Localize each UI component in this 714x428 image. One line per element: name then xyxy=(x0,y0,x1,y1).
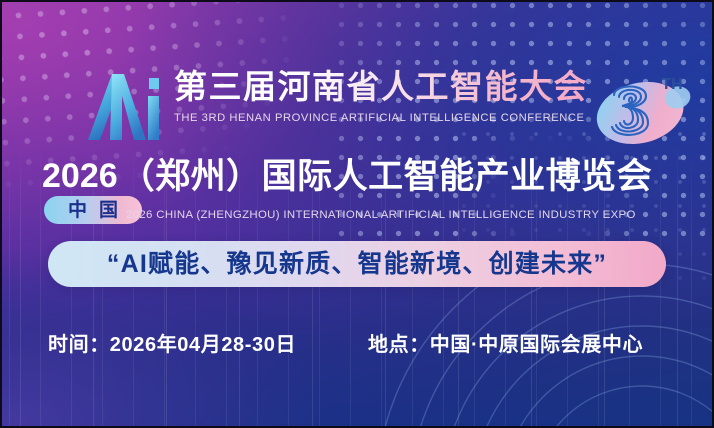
conference-title-block: 第三届河南省人工智能大会 THE 3RD HENAN PROVINCE ARTI… xyxy=(174,68,586,124)
expo-title-en: 2026 CHINA (ZHENGZHOU) INTERNATIONAL ART… xyxy=(126,209,636,221)
edition-blob-badge-icon: TH xyxy=(588,62,700,154)
ai-monogram-logo-icon xyxy=(60,66,170,146)
expo-title-cn: （郑州）国际人工智能产业博览会 xyxy=(120,159,653,194)
event-venue: 地点：中国·中原国际会展中心 xyxy=(368,327,643,363)
conference-title-en: THE 3RD HENAN PROVINCE ARTIFICIAL INTELL… xyxy=(174,112,586,124)
slogan-banner: “AI赋能、豫见新质、智能新境、创建未来” xyxy=(48,241,666,287)
event-info-row: 时间：2026年04月28-30日 地点：中国·中原国际会展中心 xyxy=(2,327,714,363)
slogan-text: “AI赋能、豫见新质、智能新境、创建未来” xyxy=(107,252,607,277)
event-date: 时间：2026年04月28-30日 xyxy=(48,327,296,363)
expo-title-block: 2026 （郑州）国际人工智能产业博览会 中国 2026 CHINA (ZHEN… xyxy=(2,152,714,230)
conference-title-cn: 第三届河南省人工智能大会 xyxy=(174,68,586,107)
country-pill-label: 中国 xyxy=(56,201,130,220)
expo-year: 2026 xyxy=(42,159,118,193)
event-poster: 第三届河南省人工智能大会 THE 3RD HENAN PROVINCE ARTI… xyxy=(0,0,714,428)
expo-title-line: 2026 （郑州）国际人工智能产业博览会 xyxy=(42,152,652,200)
poster-header: 第三届河南省人工智能大会 THE 3RD HENAN PROVINCE ARTI… xyxy=(2,60,714,150)
edition-suffix-text: TH xyxy=(661,76,682,93)
